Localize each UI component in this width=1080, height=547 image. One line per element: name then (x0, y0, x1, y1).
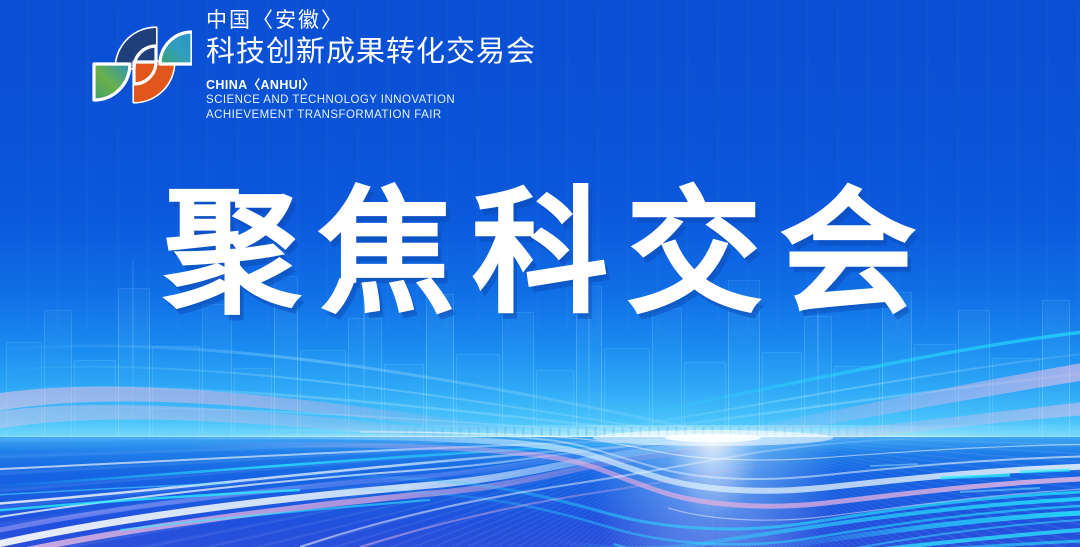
logo-en-line-3: ACHIEVEMENT TRANSFORMATION FAIR (206, 108, 536, 123)
anhui-sti-fair-logo-mark (88, 6, 192, 122)
logo-lockup: 中国〈安徽〉 科技创新成果转化交易会 CHINA〈ANHUI〉 SCIENCE … (88, 6, 536, 124)
logo-cn-line-1: 中国〈安徽〉 (206, 8, 536, 33)
banner-canvas: 中国〈安徽〉 科技创新成果转化交易会 CHINA〈ANHUI〉 SCIENCE … (0, 0, 1080, 547)
logo-text-block: 中国〈安徽〉 科技创新成果转化交易会 CHINA〈ANHUI〉 SCIENCE … (206, 6, 536, 124)
logo-en-line-2: SCIENCE AND TECHNOLOGY INNOVATION (206, 93, 536, 108)
logo-cn-line-2: 科技创新成果转化交易会 (206, 34, 536, 69)
logo-en-line-1: CHINA〈ANHUI〉 (206, 78, 536, 94)
